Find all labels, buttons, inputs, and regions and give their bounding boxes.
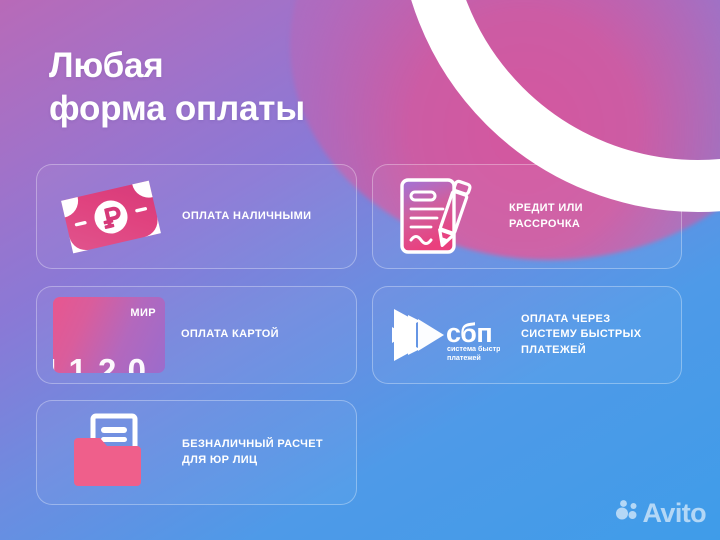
avito-watermark: Avito bbox=[615, 499, 707, 528]
page-title: Любая форма оплаты bbox=[49, 45, 305, 130]
payment-methods-poster: Любая форма оплаты bbox=[0, 0, 720, 540]
contract-pen-icon bbox=[381, 175, 491, 259]
card-number-digits: 4 1 2 0 bbox=[53, 352, 147, 373]
folder-document-icon bbox=[43, 412, 178, 494]
payment-method-card-credit[interactable]: КРЕДИТ ИЛИ РАССРОЧКА bbox=[372, 164, 682, 269]
svg-text:платежей: платежей bbox=[447, 353, 481, 362]
sbp-logo-icon: сбп система быстрых платежей bbox=[385, 305, 503, 365]
mir-card-art: МИР 4 1 2 0 bbox=[53, 297, 165, 373]
payment-method-card-bankcard[interactable]: МИР 4 1 2 0 ОПЛАТА КАРТОЙ bbox=[36, 286, 357, 384]
payment-method-card-sbp[interactable]: сбп система быстрых платежей ОПЛАТА ЧЕРЕ… bbox=[372, 286, 682, 384]
payment-method-card-cash[interactable]: ОПЛАТА НАЛИЧНЫМИ bbox=[36, 164, 357, 269]
bank-card-mir-icon: МИР 4 1 2 0 bbox=[39, 297, 179, 373]
payment-method-label: ОПЛАТА ЧЕРЕЗ СИСТЕМУ БЫСТРЫХ ПЛАТЕЖЕЙ bbox=[521, 312, 641, 358]
payment-method-label: КРЕДИТ ИЛИ РАССРОЧКА bbox=[509, 201, 583, 231]
svg-text:система быстрых: система быстрых bbox=[447, 344, 500, 353]
avito-wordmark: Avito bbox=[643, 500, 707, 527]
payment-method-label: ОПЛАТА КАРТОЙ bbox=[181, 327, 279, 342]
payment-method-label: ОПЛАТА НАЛИЧНЫМИ bbox=[182, 209, 311, 224]
payment-method-label: БЕЗНАЛИЧНЫЙ РАСЧЕТ ДЛЯ ЮР ЛИЦ bbox=[182, 437, 323, 467]
mir-brand-label: МИР bbox=[130, 307, 156, 319]
payment-method-card-invoice[interactable]: БЕЗНАЛИЧНЫЙ РАСЧЕТ ДЛЯ ЮР ЛИЦ bbox=[36, 400, 357, 505]
banknote-ruble-icon bbox=[43, 174, 178, 260]
avito-dots-icon bbox=[615, 499, 639, 528]
